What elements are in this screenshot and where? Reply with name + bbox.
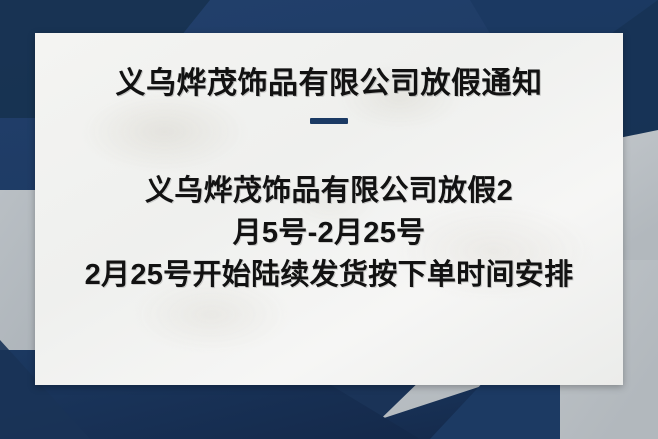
holiday-notice-poster: 义乌烨茂饰品有限公司放假通知 义乌烨茂饰品有限公司放假2 月5号-2月25号 2… xyxy=(0,0,658,439)
notice-body-line-2: 月5号-2月25号 xyxy=(35,212,623,254)
notice-card: 义乌烨茂饰品有限公司放假通知 义乌烨茂饰品有限公司放假2 月5号-2月25号 2… xyxy=(35,33,623,385)
title-divider xyxy=(310,118,348,124)
notice-body-line-3: 2月25号开始陆续发货按下单时间安排 xyxy=(35,254,623,296)
page-title: 义乌烨茂饰品有限公司放假通知 xyxy=(116,33,543,102)
notice-body: 义乌烨茂饰品有限公司放假2 月5号-2月25号 2月25号开始陆续发货按下单时间… xyxy=(35,170,623,296)
notice-body-line-1: 义乌烨茂饰品有限公司放假2 xyxy=(35,170,623,212)
